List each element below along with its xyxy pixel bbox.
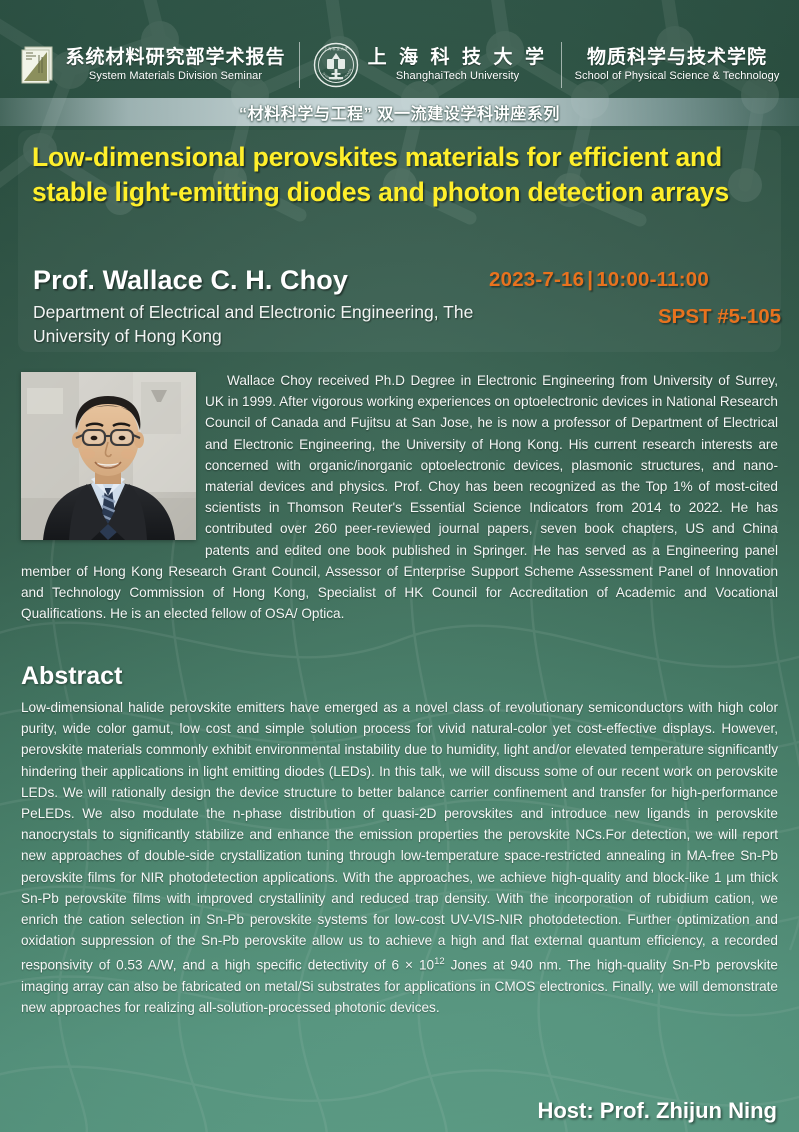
talk-title: Low-dimensional perovskites materials fo…: [32, 140, 762, 210]
speaker-bio: Wallace Choy received Ph.D Degree in Ele…: [21, 370, 778, 624]
bio-photo-spacer: [21, 370, 205, 542]
speaker-name: Prof. Wallace C. H. Choy: [33, 265, 348, 296]
abstract-body: Low-dimensional halide perovskite emitte…: [21, 697, 778, 1019]
header-school-text: 物质科学与技术学院 School of Physical Science & T…: [575, 47, 780, 83]
talk-date: 2023-7-16: [489, 268, 584, 291]
header-smd-en: System Materials Division Seminar: [66, 69, 286, 83]
header-divider-1: [299, 42, 300, 88]
talk-datetime: 2023-7-16|10:00-11:00: [489, 268, 709, 292]
abstract-text-part-1: Low-dimensional halide perovskite emitte…: [21, 700, 778, 973]
series-banner-label: “材料科学与工程” 双一流建设学科讲座系列: [239, 100, 560, 124]
talk-room: SPST #5-105: [658, 305, 781, 329]
header-block-school: 物质科学与技术学院 School of Physical Science & T…: [575, 47, 780, 83]
header-block-university: 上 海 科 技 大 学 SHANGHAITECH UNIVERSITY 上 海 …: [313, 42, 548, 88]
header-smd-text: 系统材料研究部学术报告 System Materials Division Se…: [66, 47, 286, 83]
shanghaitech-seal-icon: 上 海 科 技 大 学 SHANGHAITECH UNIVERSITY: [313, 42, 359, 88]
speaker-affiliation: Department of Electrical and Electronic …: [33, 300, 503, 348]
abstract-heading: Abstract: [21, 662, 122, 691]
header-school-cn: 物质科学与技术学院: [575, 47, 780, 69]
svg-text:上 海 科 技 大 学: 上 海 科 技 大 学: [324, 46, 348, 51]
header-block-smd: 系统材料研究部学术报告 System Materials Division Se…: [20, 45, 286, 85]
header-divider-2: [561, 42, 562, 88]
poster-header: 系统材料研究部学术报告 System Materials Division Se…: [0, 36, 799, 94]
header-smd-cn: 系统材料研究部学术报告: [66, 47, 286, 69]
document-stack-icon: [20, 45, 58, 85]
header-university-cn: 上 海 科 技 大 学: [368, 47, 548, 69]
seminar-poster: 系统材料研究部学术报告 System Materials Division Se…: [0, 0, 799, 1132]
header-school-en: School of Physical Science & Technology: [575, 69, 780, 83]
talk-time: 10:00-11:00: [596, 268, 709, 291]
series-banner: “材料科学与工程” 双一流建设学科讲座系列: [0, 98, 799, 126]
abstract-exponent: 12: [434, 956, 445, 967]
host-label: Host: Prof. Zhijun Ning: [537, 1098, 777, 1124]
header-university-text: 上 海 科 技 大 学 ShanghaiTech University: [368, 47, 548, 83]
datetime-separator: |: [584, 268, 596, 291]
header-university-en: ShanghaiTech University: [368, 69, 548, 83]
